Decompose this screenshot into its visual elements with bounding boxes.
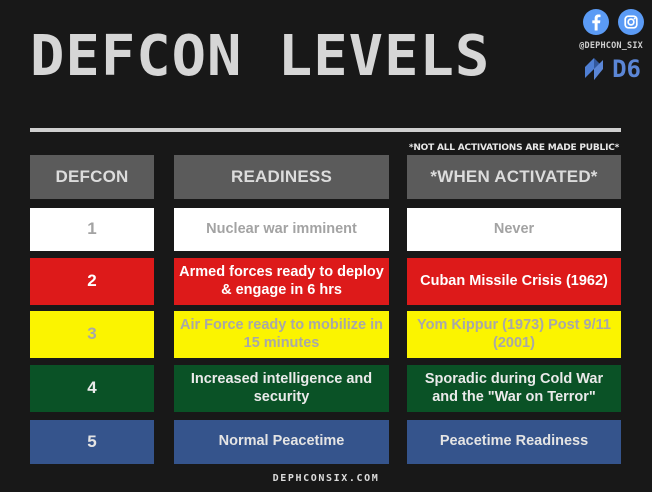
table-row: 5 <box>30 420 154 464</box>
table-row: Normal Peacetime <box>174 420 389 464</box>
table-row: Yom Kippur (1973) Post 9/11 (2001) <box>407 311 621 358</box>
footer-website: DEPHCONSIX.COM <box>0 473 652 484</box>
table-row: Air Force ready to mobilize in 15 minute… <box>174 311 389 358</box>
table-row: Cuban Missile Crisis (1962) <box>407 258 621 305</box>
table-row: Sporadic during Cold War and the "War on… <box>407 365 621 412</box>
table-row: Increased intelligence and security <box>174 365 389 412</box>
table-row: Peacetime Readiness <box>407 420 621 464</box>
table-row: 2 <box>30 258 154 305</box>
table-row: Never <box>407 208 621 251</box>
table-row: 4 <box>30 365 154 412</box>
defcon-table: DEFCON READINESS *WHEN ACTIVATED* 1 Nucl… <box>0 0 652 492</box>
table-row: 3 <box>30 311 154 358</box>
column-header-defcon: DEFCON <box>30 155 154 199</box>
table-row: Nuclear war imminent <box>174 208 389 251</box>
defcon-levels-infographic: DEFCON LEVELS @DEPHCON_SIX <box>0 0 652 492</box>
table-row: Armed forces ready to deploy & engage in… <box>174 258 389 305</box>
table-row: 1 <box>30 208 154 251</box>
column-header-activated: *WHEN ACTIVATED* <box>407 155 621 199</box>
column-header-readiness: READINESS <box>174 155 389 199</box>
